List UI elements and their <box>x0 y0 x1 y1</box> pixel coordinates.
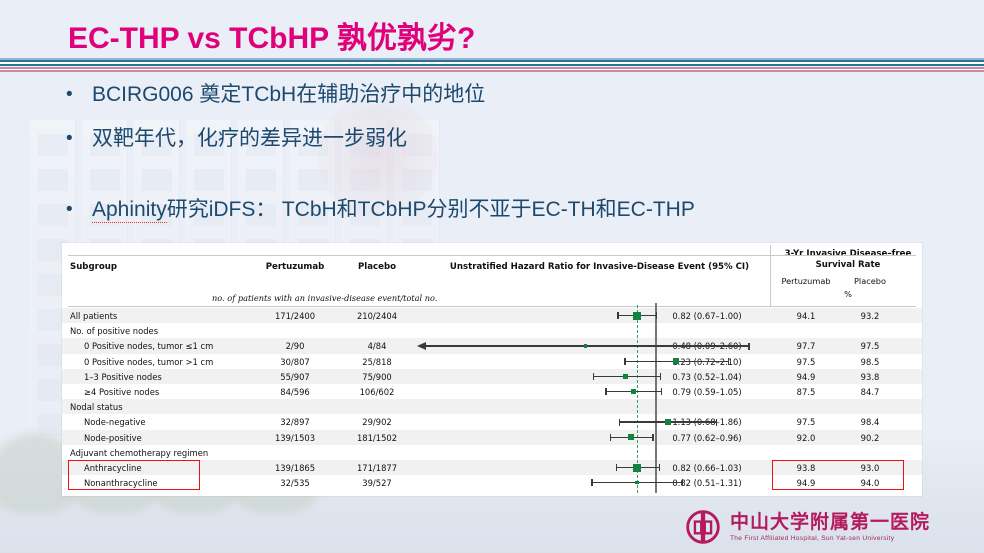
table-row: Node-positive139/1503181/15020.77 (0.62–… <box>62 430 922 445</box>
table-row: 1–3 Positive nodes55/90775/9000.73 (0.52… <box>62 369 922 384</box>
row-survival-pertuzumab: 94.1 <box>778 311 834 321</box>
table-row: 0 Positive nodes, tumor ≤1 cm2/904/840.4… <box>62 338 922 353</box>
row-subgroup-label: All patients <box>70 311 117 321</box>
row-hazard-ratio-value: 1.13 (0.68–1.86) <box>642 417 772 427</box>
row-hazard-ratio-value: 0.82 (0.66–1.03) <box>642 463 772 473</box>
row-pertuzumab-events: 139/1865 <box>258 463 332 473</box>
row-pertuzumab-events: 84/596 <box>258 387 332 397</box>
title-divider <box>0 58 984 74</box>
bullet-item: •双靶年代，化疗的差异进一步弱化 <box>0 128 984 149</box>
header-rule-top <box>68 255 916 256</box>
row-survival-pertuzumab: 94.9 <box>778 372 834 382</box>
row-hazard-ratio-value: 0.82 (0.51–1.31) <box>642 478 772 488</box>
logo-name-en: The First Affiliated Hospital, Sun Yat-s… <box>730 535 930 542</box>
events-note: no. of patients with an invasive-disease… <box>212 293 437 303</box>
row-pertuzumab-events: 139/1503 <box>258 433 332 443</box>
table-row: Node-negative32/89729/9021.13 (0.68–1.86… <box>62 414 922 429</box>
bullet-text: Aphinity研究iDFS： TCbH和TCbHP分别不亚于EC-TH和EC-… <box>92 198 695 223</box>
row-hazard-ratio-value: 0.79 (0.59–1.05) <box>642 387 772 397</box>
header-placebo: Placebo <box>340 262 414 272</box>
header-survival-unit: % <box>778 289 918 299</box>
row-pertuzumab-events: 55/907 <box>258 372 332 382</box>
header-vertical-rule <box>770 245 771 306</box>
row-hazard-ratio-value: 0.77 (0.62–0.96) <box>642 433 772 443</box>
bullet-marker-icon: • <box>66 129 73 148</box>
row-subgroup-label: ≥4 Positive nodes <box>84 387 159 397</box>
bullet-marker-icon: • <box>66 200 73 219</box>
table-row: No. of positive nodes <box>62 323 922 338</box>
bullet-text: BCIRG006 奠定TCbH在辅助治疗中的地位 <box>92 83 485 106</box>
row-survival-placebo: 93.8 <box>842 372 898 382</box>
row-placebo-events: 106/602 <box>340 387 414 397</box>
page-title: EC-THP vs TCbHP 孰优孰劣? <box>68 13 475 57</box>
row-placebo-events: 25/818 <box>340 357 414 367</box>
logo-name-cn: 中山大学 <box>730 513 810 532</box>
row-survival-pertuzumab: 92.0 <box>778 433 834 443</box>
table-row: Adjuvant chemotherapy regimen <box>62 445 922 460</box>
divider-stripe <box>0 70 984 72</box>
footer: 中山大学 附属第一医院 The First Affiliated Hospita… <box>0 497 984 553</box>
highlight-box-subgroup <box>68 460 200 490</box>
figure-header: Subgroup Pertuzumab Placebo Unstratified… <box>62 243 922 308</box>
row-placebo-events: 181/1502 <box>340 433 414 443</box>
header-survival-line1: 3-Yr Invasive Disease–free <box>778 249 918 259</box>
header-rule-bottom <box>68 306 916 307</box>
forest-plot-figure: Subgroup Pertuzumab Placebo Unstratified… <box>62 243 922 496</box>
highlight-box-survival <box>772 460 904 490</box>
row-survival-pertuzumab: 87.5 <box>778 387 834 397</box>
row-survival-placebo: 98.4 <box>842 417 898 427</box>
table-row: ≥4 Positive nodes84/596106/6020.79 (0.59… <box>62 384 922 399</box>
row-survival-placebo: 93.2 <box>842 311 898 321</box>
table-row: Nodal status <box>62 399 922 414</box>
bullet-marker-icon: • <box>66 85 73 104</box>
header-pertuzumab: Pertuzumab <box>258 262 332 272</box>
logo-emblem-icon <box>685 509 721 545</box>
row-survival-pertuzumab: 97.5 <box>778 417 834 427</box>
row-survival-placebo: 98.5 <box>842 357 898 367</box>
row-subgroup-label: 0 Positive nodes, tumor >1 cm <box>84 357 213 367</box>
row-subgroup-label: Node-negative <box>84 417 146 427</box>
row-subgroup-label: Adjuvant chemotherapy regimen <box>70 448 208 458</box>
table-row: 0 Positive nodes, tumor >1 cm30/80725/81… <box>62 354 922 369</box>
hospital-logo: 中山大学 附属第一医院 The First Affiliated Hospita… <box>685 509 930 545</box>
row-survival-pertuzumab: 97.5 <box>778 357 834 367</box>
header-survival-pertuzumab: Pertuzumab <box>778 276 834 286</box>
row-hazard-ratio-value: 1.23 (0.72–2.10) <box>642 357 772 367</box>
bullet-text: 双靶年代，化疗的差异进一步弱化 <box>92 127 407 150</box>
row-pertuzumab-events: 32/897 <box>258 417 332 427</box>
row-survival-pertuzumab: 97.7 <box>778 341 834 351</box>
spellcheck-underline: Aphinity <box>92 198 167 223</box>
bullet-list: •BCIRG006 奠定TCbH在辅助治疗中的地位•双靶年代，化疗的差异进一步弱… <box>0 84 984 220</box>
row-survival-placebo: 97.5 <box>842 341 898 351</box>
header-survival-line2: Survival Rate <box>778 260 918 270</box>
row-survival-placebo: 90.2 <box>842 433 898 443</box>
row-placebo-events: 4/84 <box>340 341 414 351</box>
row-pertuzumab-events: 30/807 <box>258 357 332 367</box>
row-hazard-ratio-value: 0.48 (0.09–2.60) <box>642 341 772 351</box>
row-survival-placebo: 84.7 <box>842 387 898 397</box>
header-subgroup: Subgroup <box>70 262 117 272</box>
row-hazard-ratio-value: 0.82 (0.67–1.00) <box>642 311 772 321</box>
row-placebo-events: 75/900 <box>340 372 414 382</box>
row-subgroup-label: 1–3 Positive nodes <box>84 372 162 382</box>
bullet-item: •BCIRG006 奠定TCbH在辅助治疗中的地位 <box>0 84 984 105</box>
row-subgroup-label: Node-positive <box>84 433 142 443</box>
row-pertuzumab-events: 32/535 <box>258 478 332 488</box>
row-subgroup-label: Nodal status <box>70 402 123 412</box>
header-hazard-ratio: Unstratified Hazard Ratio for Invasive-D… <box>427 262 772 272</box>
row-subgroup-label: 0 Positive nodes, tumor ≤1 cm <box>84 341 213 351</box>
row-placebo-events: 29/902 <box>340 417 414 427</box>
row-pertuzumab-events: 171/2400 <box>258 311 332 321</box>
bullet-item: •Aphinity研究iDFS： TCbH和TCbHP分别不亚于EC-TH和EC… <box>0 199 984 220</box>
row-placebo-events: 171/1877 <box>340 463 414 473</box>
row-hazard-ratio-value: 0.73 (0.52–1.04) <box>642 372 772 382</box>
logo-affiliation-cn: 附属第一医院 <box>810 513 930 532</box>
row-placebo-events: 39/527 <box>340 478 414 488</box>
table-row: All patients171/2400210/24040.82 (0.67–1… <box>62 308 922 323</box>
header-survival-placebo: Placebo <box>842 276 898 286</box>
title-bar: EC-THP vs TCbHP 孰优孰劣? <box>0 0 984 58</box>
row-pertuzumab-events: 2/90 <box>258 341 332 351</box>
row-subgroup-label: No. of positive nodes <box>70 326 158 336</box>
row-placebo-events: 210/2404 <box>340 311 414 321</box>
